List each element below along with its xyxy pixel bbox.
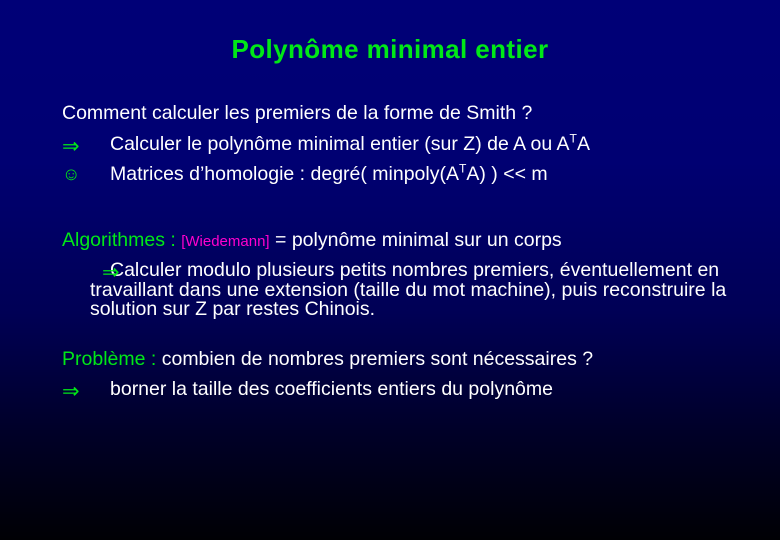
bullet-item-borner-taille: ⇒ borner la taille des coefficients enti… [62,380,762,400]
body-line-algorithmes-text: Algorithmes : [Wiedemann] = polynôme min… [62,229,562,251]
bullet-item-calculer-minpoly-label: Calculer le polynôme minimal entier (sur… [110,133,590,155]
heading-label-algorithmes: Algorithmes : [62,229,176,251]
double-arrow-icon: ⇒ [62,135,102,156]
double-arrow-icon: ⇒ [62,261,102,282]
heading-label-probleme: Problème : [62,348,156,370]
body-line-algorithmes: Algorithmes : [Wiedemann] = polynôme min… [62,231,762,251]
text-segment: A [577,133,590,155]
text-segment: combien de nombres premiers sont nécessa… [162,348,593,370]
body-line-question: Comment calculer les premiers de la form… [62,104,762,124]
bullet-item-matrices-homologie-label: Matrices d’homologie : degré( minpoly(AT… [110,163,548,185]
bullet-item-matrices-homologie: ☺ Matrices d’homologie : degré( minpoly(… [62,165,762,185]
spacer [62,185,762,231]
bullet-item-borner-taille-label: borner la taille des coefficients entier… [110,378,553,400]
page-title: Polynôme minimal entier [0,34,780,65]
bullet-item-calculer-modulo-label: Calculer modulo plusieurs petits nombres… [90,259,726,320]
text-segment: Calculer le polynôme minimal entier (sur… [110,133,570,155]
text-segment: Matrices d’homologie : degré( minpoly(A [110,163,459,185]
superscript-transpose: T [570,131,577,145]
citation-reference-wiedemann: [Wiedemann] [181,233,269,250]
bullet-item-calculer-minpoly: ⇒ Calculer le polynôme minimal entier (s… [62,135,762,155]
slide-body: Comment calculer les premiers de la form… [62,104,762,400]
presentation-slide: Polynôme minimal entier Comment calculer… [0,0,780,540]
bullet-item-calculer-modulo: ⇒ Calculer modulo plusieurs petits nombr… [62,261,762,320]
text-segment: A) ) << m [466,163,547,185]
double-arrow-icon: ⇒ [62,380,102,401]
body-line-probleme-text: Problème : combien de nombres premiers s… [62,348,593,370]
text-segment: = polynôme minimal sur un corps [275,229,562,251]
smiley-face-icon: ☺ [62,165,102,184]
spacer [62,320,762,350]
body-line-probleme: Problème : combien de nombres premiers s… [62,350,762,370]
body-line-question-text: Comment calculer les premiers de la form… [62,102,532,124]
